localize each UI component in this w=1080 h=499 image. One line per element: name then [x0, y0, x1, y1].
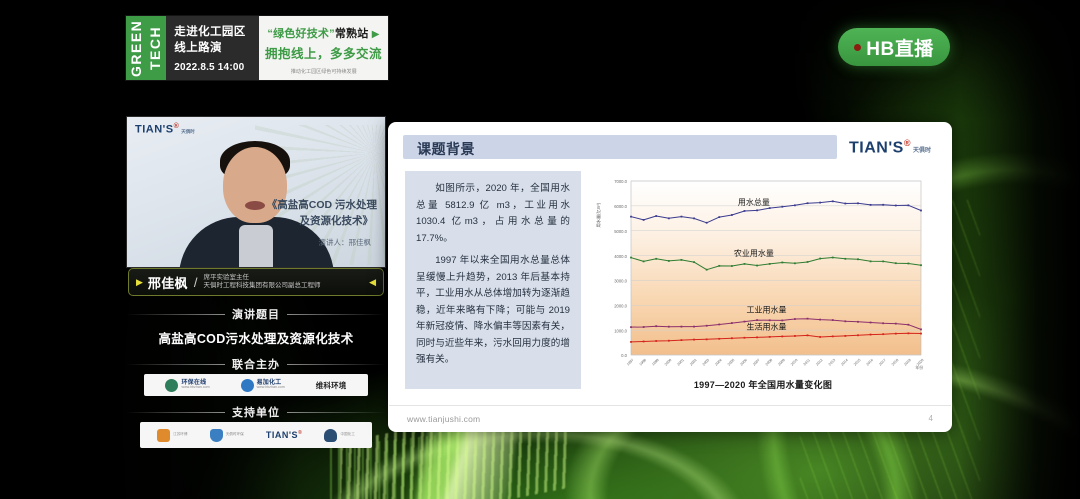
svg-text:用水总量: 用水总量 — [738, 197, 770, 207]
cohost-logo-2-name: 维科环境 — [316, 380, 347, 391]
svg-text:1999: 1999 — [651, 358, 659, 366]
svg-text:2019: 2019 — [903, 358, 911, 366]
support-logo-2: TIAN'S® — [266, 430, 302, 440]
arrow-left-icon: ◀ — [369, 277, 376, 288]
svg-text:5000.0: 5000.0 — [614, 229, 627, 234]
speaker-name: 邢佳枫 — [148, 273, 188, 292]
svg-text:3000.0: 3000.0 — [614, 279, 627, 284]
svg-text:2009: 2009 — [777, 358, 785, 366]
live-badge[interactable]: HB直播 — [838, 28, 950, 66]
svg-text:2000.0: 2000.0 — [614, 303, 627, 308]
svg-text:2004: 2004 — [714, 358, 722, 366]
svg-text:1997: 1997 — [626, 358, 634, 366]
video-overlay-speaker: 演讲人：邢佳枫 — [319, 237, 372, 248]
svg-text:2002: 2002 — [689, 358, 697, 366]
event-datetime: 2022.8.5 14:00 — [174, 62, 253, 73]
svg-text:2008: 2008 — [765, 358, 773, 366]
slide-body: 如图所示，2020 年，全国用水总量 5812.9 亿 m3，工业用水 1030… — [389, 167, 951, 389]
arrow-right-icon: ▶ — [136, 277, 143, 288]
speaker-panel: TIAN'S®天俱时 《高盐高COD 污水处理 及资源化技术》 演讲人：邢佳枫 … — [126, 116, 386, 446]
support-logo-3-icon — [324, 429, 337, 442]
slide-title: 课题背景 — [417, 139, 475, 159]
cohost-section-label: 联合主办 — [232, 356, 280, 372]
support-logo-3: 中国化工 — [324, 429, 354, 442]
slide-footer-url: www.tianjushi.com — [407, 414, 480, 424]
event-banner: GREEN TECH 走进化工园区 线上路演 2022.8.5 14:00 “绿… — [126, 16, 388, 80]
speaker-role-line2: 天俱时工程科技集团有限公司副总工程师 — [203, 282, 320, 290]
slide-footer: www.tianjushi.com 4 — [389, 405, 951, 431]
svg-text:用水量(亿m³): 用水量(亿m³) — [595, 202, 602, 227]
svg-text:2013: 2013 — [828, 358, 836, 366]
slide-paragraph-1: 如图所示，2020 年，全国用水总量 5812.9 亿 m3，工业用水 1030… — [416, 181, 570, 247]
svg-text:2012: 2012 — [815, 358, 823, 366]
event-slogan-line3: 推动化工园区绿色可持续发展 — [291, 67, 357, 74]
slide-text-card: 如图所示，2020 年，全国用水总量 5812.9 亿 m3，工业用水 1030… — [405, 171, 581, 389]
event-slogan-block: “绿色好技术”常熟站 ▶ 拥抱线上，多多交流 推动化工园区绿色可持续发展 — [259, 16, 388, 80]
video-brand-sub: 天俱时 — [181, 129, 195, 134]
svg-text:1000.0: 1000.0 — [614, 328, 627, 333]
topic-section-label: 演讲题目 — [232, 306, 280, 322]
video-player[interactable]: TIAN'S®天俱时 《高盐高COD 污水处理 及资源化技术》 演讲人：邢佳枫 — [126, 116, 386, 268]
cohost-logo-1-sub: www.hbzhan.com — [257, 386, 285, 390]
event-title-block: 走进化工园区 线上路演 2022.8.5 14:00 — [166, 16, 259, 80]
event-slogan-quoted: “绿色好技术” — [267, 28, 334, 40]
greentech-logo-text: GREEN TECH — [127, 16, 165, 80]
svg-text:2003: 2003 — [702, 358, 710, 366]
topic-section-header: 演讲题目 — [126, 306, 386, 322]
svg-text:4000.0: 4000.0 — [614, 254, 627, 259]
svg-text:2017: 2017 — [878, 358, 886, 366]
svg-text:农业用水量: 农业用水量 — [734, 248, 774, 258]
greentech-logo: GREEN TECH — [126, 16, 166, 80]
cohost-logo-0: 环保在线 www.hbzhan.com — [165, 379, 209, 392]
speaker-role: 席平实验室主任 天俱时工程科技集团有限公司副总工程师 — [203, 274, 320, 290]
speaker-mouth — [245, 201, 265, 210]
svg-text:2001: 2001 — [676, 358, 684, 366]
support-logo-0: 江苏环博 — [157, 429, 187, 442]
support-logo-0-name: 江苏环博 — [173, 433, 187, 437]
live-stream-screenshot: GREEN TECH 走进化工园区 线上路演 2022.8.5 14:00 “绿… — [0, 0, 1080, 499]
support-logo-3-name: 中国化工 — [340, 433, 354, 437]
cohost-logo-0-icon — [165, 379, 178, 392]
chart-caption: 1997—2020 年全国用水量变化图 — [591, 378, 935, 391]
support-logo-2-name: TIAN'S — [266, 430, 298, 440]
slide-brand-sub: 天俱时 — [913, 148, 931, 154]
slide-brand-logo: TIAN'S®天俱时 — [849, 138, 931, 157]
svg-text:年份: 年份 — [915, 365, 923, 370]
live-dot-icon — [854, 44, 861, 51]
svg-text:2010: 2010 — [790, 358, 798, 366]
speaker-role-line1: 席平实验室主任 — [203, 274, 320, 282]
speaker-name-separator: / — [194, 275, 198, 290]
support-logo-1-name: 天俱时环保 — [226, 433, 244, 437]
svg-text:2011: 2011 — [803, 358, 811, 366]
support-section-label: 支持单位 — [232, 404, 280, 420]
event-slogan-station: 常熟站 — [335, 28, 369, 40]
speaker-name-bar: ▶ 邢佳枫 / 席平实验室主任 天俱时工程科技集团有限公司副总工程师 ◀ — [128, 268, 384, 296]
svg-text:7000.0: 7000.0 — [614, 179, 627, 184]
support-logo-1: 天俱时环保 — [210, 429, 244, 442]
support-logo-0-icon — [157, 429, 170, 442]
event-title-line1: 走进化工园区 — [174, 25, 253, 41]
cohost-section-header: 联合主办 — [126, 356, 386, 372]
slide-page-number: 4 — [929, 414, 933, 423]
svg-text:2005: 2005 — [727, 358, 735, 366]
event-slogan-line2: 拥抱线上，多多交流 — [265, 43, 382, 62]
cohost-logo-strip: 环保在线 www.hbzhan.com 易加化工 www.hbzhan.com … — [144, 374, 368, 396]
slide-paragraph-2: 1997 年以来全国用水总量总体呈缓慢上升趋势，2013 年后基本持平，工业用水… — [416, 253, 570, 369]
water-usage-chart: 0.01000.02000.03000.04000.05000.06000.07… — [591, 171, 935, 389]
slide-header: 课题背景 TIAN'S®天俱时 — [389, 123, 951, 167]
cohost-logo-0-sub: www.hbzhan.com — [181, 386, 209, 390]
event-slogan-line1: “绿色好技术”常熟站 ▶ — [267, 25, 379, 41]
water-usage-chart-svg: 0.01000.02000.03000.04000.05000.06000.07… — [591, 171, 927, 381]
svg-text:2006: 2006 — [740, 358, 748, 366]
play-triangle-icon: ▶ — [372, 29, 380, 40]
speaker-shirt — [239, 225, 273, 268]
live-badge-label: HB直播 — [866, 34, 933, 61]
cohost-logo-1: 易加化工 www.hbzhan.com — [241, 379, 285, 392]
talk-title: 高盐高COD污水处理及资源化技术 — [126, 328, 386, 347]
svg-text:2015: 2015 — [853, 358, 861, 366]
svg-text:工业用水量: 工业用水量 — [746, 305, 786, 315]
slide-brand-name: TIAN'S — [849, 139, 904, 156]
svg-text:2014: 2014 — [840, 358, 848, 366]
svg-text:6000.0: 6000.0 — [614, 204, 627, 209]
svg-text:2000: 2000 — [664, 358, 672, 366]
video-overlay-title-line1: 《高盐高COD 污水处理 — [267, 197, 377, 212]
video-brand-logo: TIAN'S®天俱时 — [135, 123, 195, 136]
video-brand-name: TIAN'S — [135, 124, 174, 136]
svg-text:2018: 2018 — [891, 358, 899, 366]
cohost-logo-1-icon — [241, 379, 254, 392]
event-title-line2: 线上路演 — [174, 41, 253, 57]
support-section-header: 支持单位 — [126, 404, 386, 420]
support-logo-1-icon — [210, 429, 223, 442]
svg-text:0.0: 0.0 — [621, 353, 627, 358]
svg-text:2007: 2007 — [752, 358, 760, 366]
svg-text:生活用水量: 生活用水量 — [746, 322, 786, 332]
presentation-slide[interactable]: 课题背景 TIAN'S®天俱时 如图所示，2020 年，全国用水总量 5812.… — [388, 122, 952, 432]
svg-text:1998: 1998 — [639, 358, 647, 366]
svg-text:2016: 2016 — [866, 358, 874, 366]
video-overlay-title-line2: 及资源化技术》 — [300, 213, 374, 228]
support-logo-strip: 江苏环博 天俱时环保 TIAN'S® 中国化工 — [140, 422, 372, 448]
